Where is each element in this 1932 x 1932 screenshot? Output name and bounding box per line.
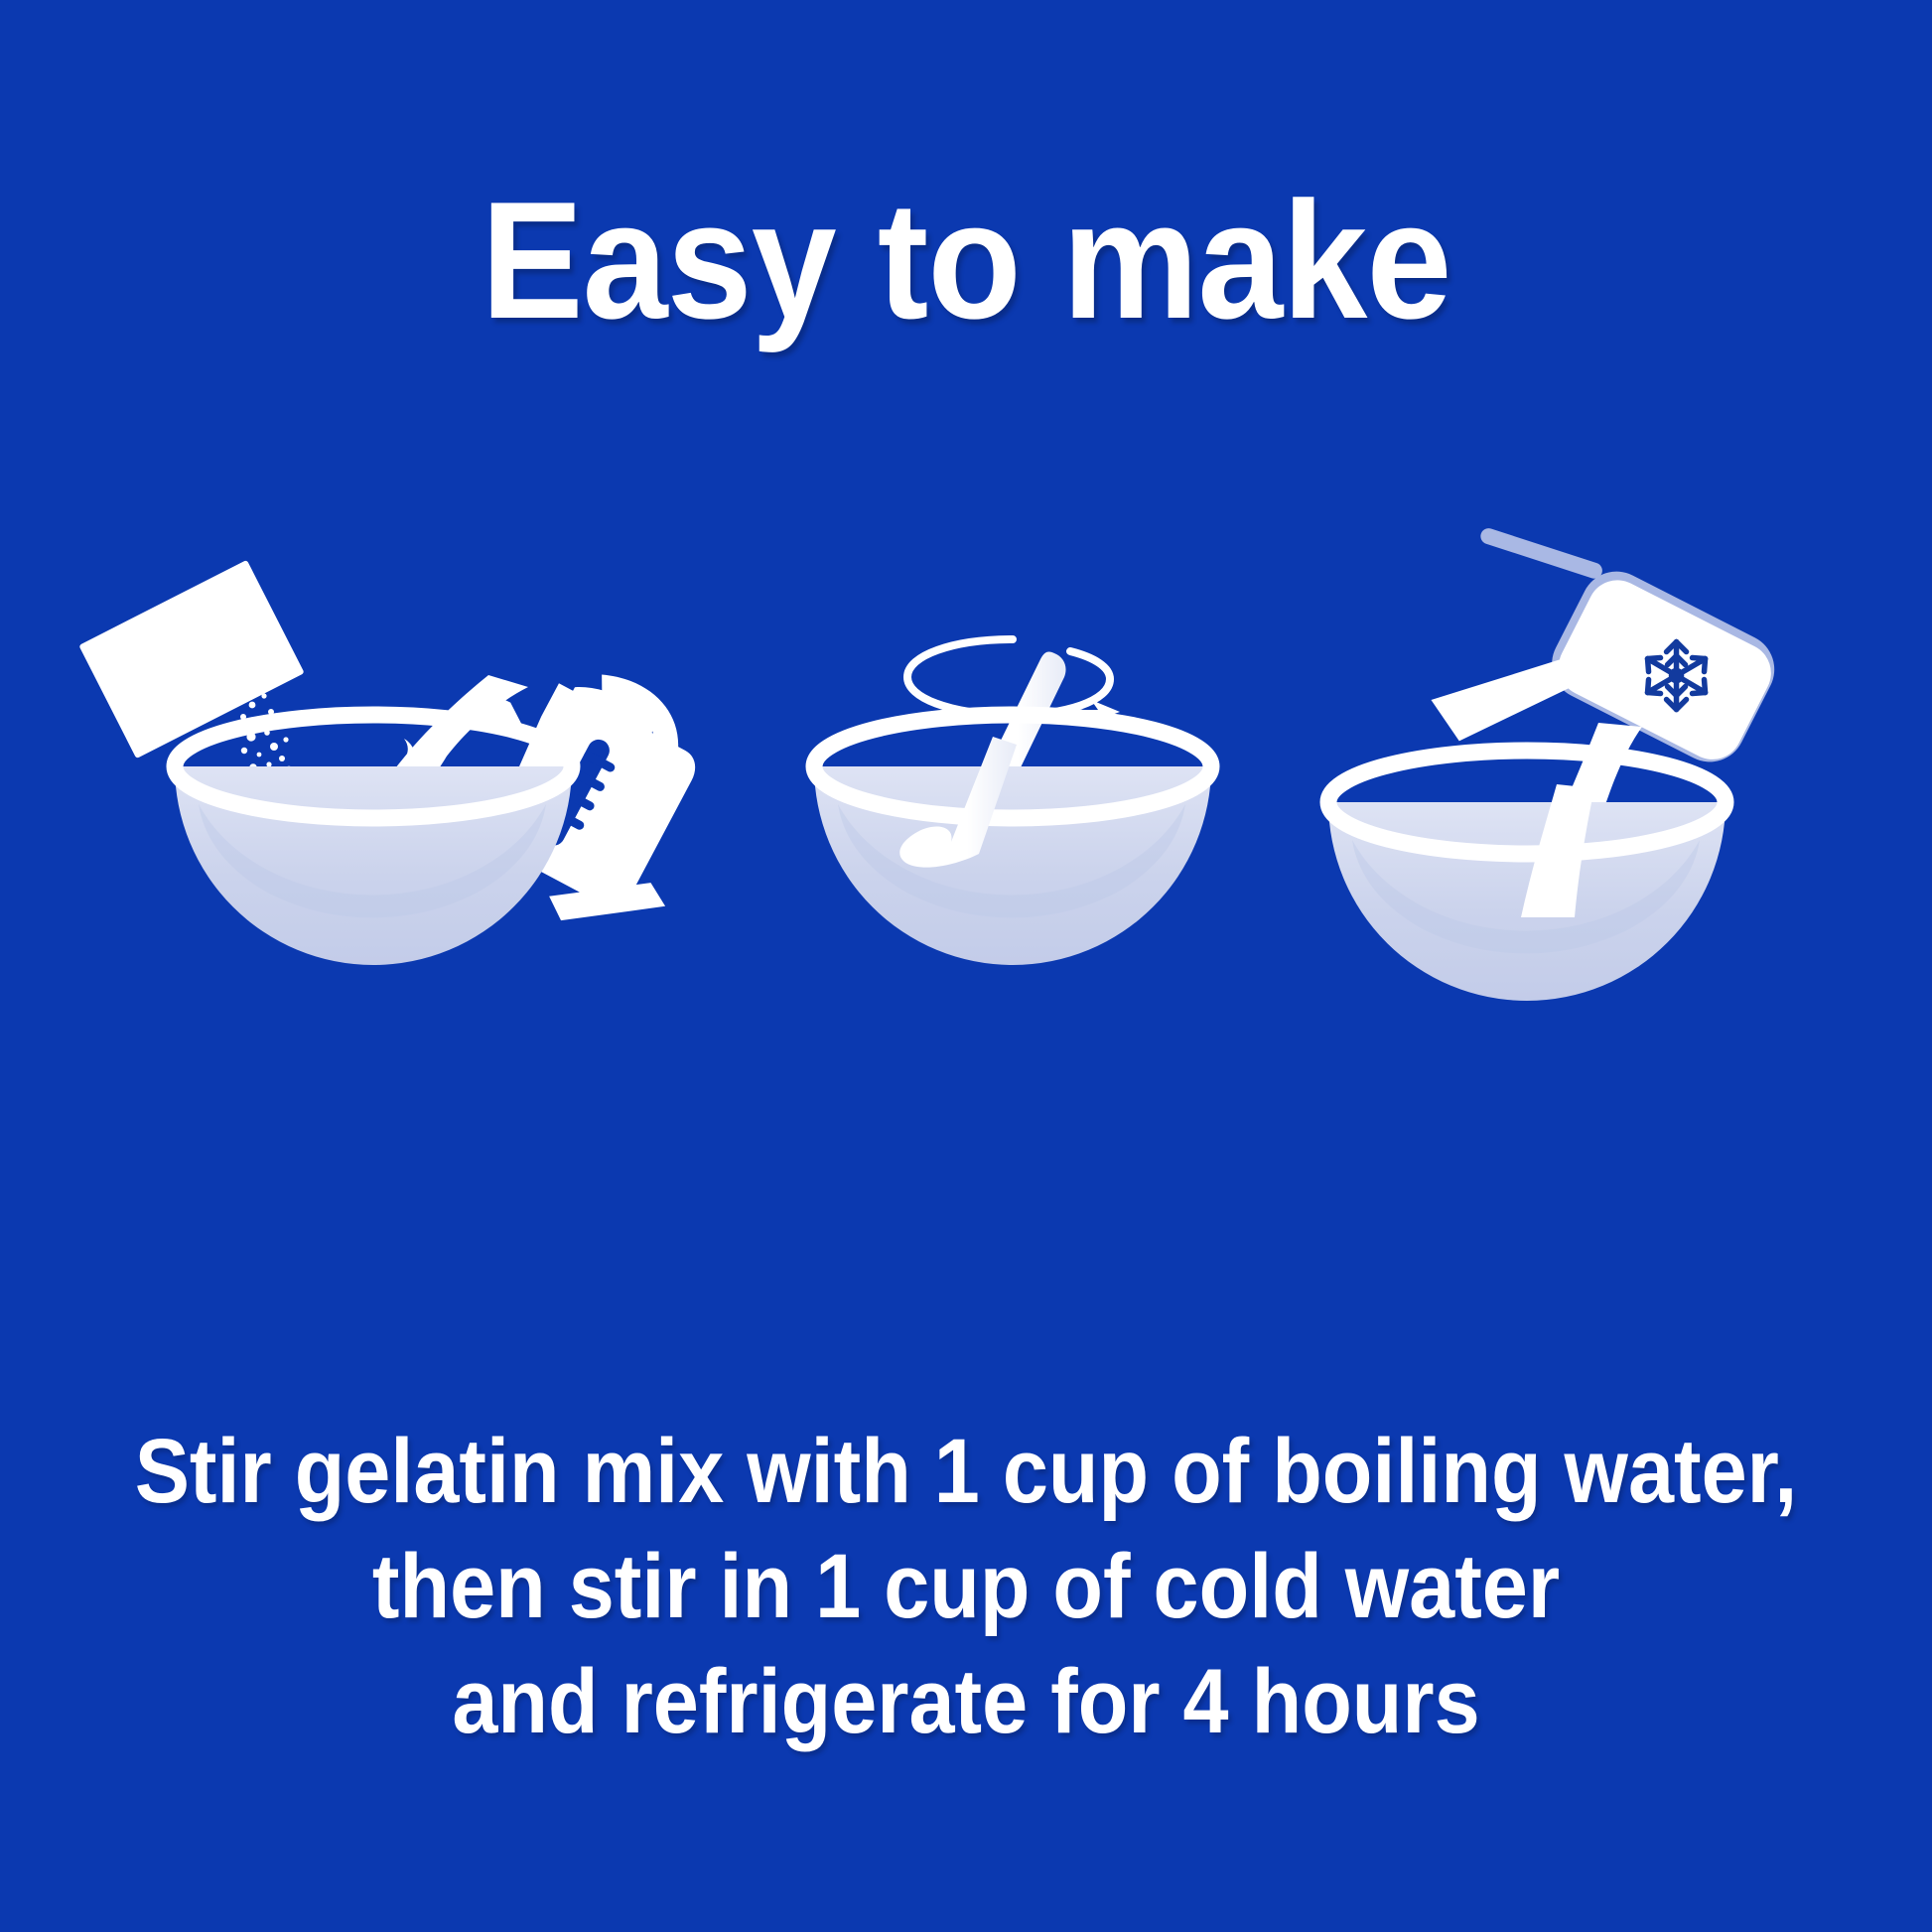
step-1-add-mix-and-boiling-water — [79, 556, 794, 973]
step-2-stir — [804, 556, 1221, 973]
step-3-add-cold-water — [1271, 556, 1886, 973]
caption-line-1: Stir gelatin mix with 1 cup of boiling w… — [96, 1414, 1835, 1529]
instruction-icon-row — [0, 556, 1932, 973]
poster-canvas: Easy to make — [0, 0, 1932, 1932]
bowl-icon — [1328, 751, 1725, 1001]
page-title: Easy to make — [77, 177, 1855, 344]
caption-line-3: and refrigerate for 4 hours — [96, 1644, 1835, 1759]
instruction-caption: Stir gelatin mix with 1 cup of boiling w… — [0, 1414, 1932, 1759]
caption-line-2: then stir in 1 cup of cold water — [96, 1529, 1835, 1644]
bowl-icon — [175, 715, 572, 965]
